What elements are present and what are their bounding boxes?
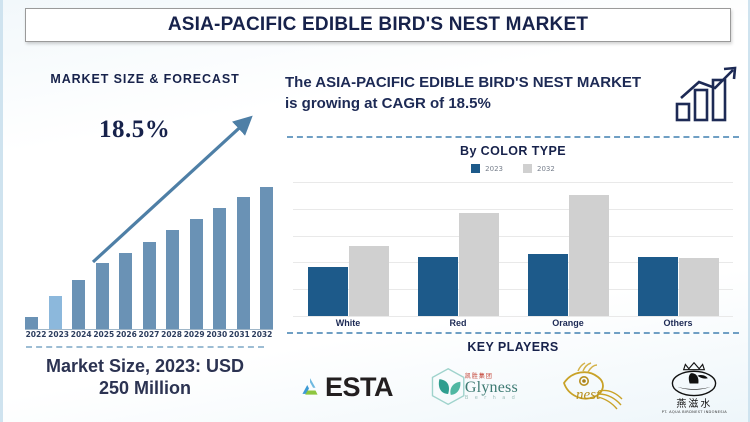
color-type-x-tick: Others <box>630 318 726 328</box>
forecast-bar <box>143 242 156 329</box>
right-column: The ASIA-PACIFIC EDIBLE BIRD'S NEST MARK… <box>281 50 745 418</box>
statement-emphasis: ASIA-PACIFIC EDIBLE BIRD'S NEST MARKET <box>315 74 641 91</box>
forecast-x-tick: 2022 <box>25 330 47 339</box>
forecast-x-tick: 2026 <box>115 330 137 339</box>
aqua-subtitle: PT. AQUA BIRDNEST INDONESIA <box>662 410 727 414</box>
page-title-bar: ASIA-PACIFIC EDIBLE BIRD'S NEST MARKET <box>25 8 731 42</box>
gridline <box>293 316 733 317</box>
market-size-value-line2: 250 Million <box>21 378 269 400</box>
forecast-bar <box>260 187 273 329</box>
page-title: ASIA-PACIFIC EDIBLE BIRD'S NEST MARKET <box>168 14 588 36</box>
forecast-bar <box>72 280 85 330</box>
forecast-x-tick: 2032 <box>251 330 273 339</box>
forecast-bar <box>25 317 38 329</box>
statement-tail: is growing at CAGR of 18.5% <box>285 95 491 112</box>
market-size-value: Market Size, 2023: USD 250 Million <box>11 356 279 400</box>
color-type-x-tick: Red <box>410 318 506 328</box>
forecast-bar <box>119 253 132 329</box>
growth-statement-row: The ASIA-PACIFIC EDIBLE BIRD'S NEST MARK… <box>285 58 741 130</box>
forecast-x-tick: 2030 <box>206 330 228 339</box>
key-player-logo-cnest: nest <box>554 358 626 416</box>
key-players-row: ESTA 凯胜集团 Glyness B e r h a d <box>281 356 745 418</box>
growth-statement-text: The ASIA-PACIFIC EDIBLE BIRD'S NEST MARK… <box>285 73 653 114</box>
footer-divider <box>26 346 264 348</box>
legend-label: 2023 <box>485 165 503 173</box>
infographic-page: ASIA-PACIFIC EDIBLE BIRD'S NEST MARKET M… <box>0 0 750 422</box>
color-type-title: By COLOR TYPE <box>281 144 745 158</box>
market-size-forecast-panel: MARKET SIZE & FORECAST 18.5% 20222023202… <box>11 50 279 416</box>
legend-swatch-icon <box>471 164 480 173</box>
divider-top <box>287 136 739 138</box>
cnest-bird-logo-icon: nest <box>554 361 626 413</box>
forecast-x-tick: 2028 <box>161 330 183 339</box>
forecast-bar <box>237 197 250 329</box>
color-type-bar <box>308 267 348 316</box>
forecast-x-tick: 2029 <box>183 330 205 339</box>
market-size-forecast-chart <box>25 170 273 330</box>
color-type-chart <box>293 182 733 316</box>
forecast-bar <box>49 296 62 329</box>
glyness-subtitle: B e r h a d <box>465 396 518 401</box>
market-size-value-line1: Market Size, 2023: USD <box>21 356 269 378</box>
key-player-logo-esta: ESTA <box>299 358 393 416</box>
forecast-x-tick: 2031 <box>228 330 250 339</box>
color-type-bar-group <box>630 182 726 316</box>
color-type-bar <box>459 213 499 316</box>
color-type-bar <box>569 195 609 316</box>
legend-swatch-icon <box>523 164 532 173</box>
forecast-bar <box>190 219 203 329</box>
forecast-x-axis: 2022202320242025202620272028202920302031… <box>25 330 273 339</box>
market-size-forecast-heading: MARKET SIZE & FORECAST <box>11 72 279 86</box>
divider-bottom <box>287 332 739 334</box>
key-player-logo-glyness: 凯胜集团 Glyness B e r h a d <box>429 358 518 416</box>
color-type-x-axis: WhiteRedOrangeOthers <box>293 318 733 328</box>
cagr-annotation: 18.5% <box>99 116 170 144</box>
color-type-legend: 20232032 <box>281 164 745 173</box>
forecast-bars <box>25 177 273 330</box>
forecast-x-tick: 2027 <box>138 330 160 339</box>
color-type-x-tick: Orange <box>520 318 616 328</box>
esta-wordmark: ESTA <box>325 374 393 401</box>
color-type-x-tick: White <box>300 318 396 328</box>
color-type-bar <box>679 258 719 316</box>
forecast-x-tick: 2025 <box>93 330 115 339</box>
cnest-wordmark: nest <box>576 387 601 403</box>
key-player-logo-aqua-birdnest: 燕滋水 PT. AQUA BIRDNEST INDONESIA <box>662 358 727 416</box>
color-type-bar-group <box>520 182 616 316</box>
forecast-bar <box>166 230 179 329</box>
color-type-bar <box>528 254 568 316</box>
color-type-bar <box>349 246 389 316</box>
forecast-x-tick: 2024 <box>70 330 92 339</box>
color-type-bar <box>418 257 458 316</box>
key-players-title: KEY PLAYERS <box>281 340 745 354</box>
esta-triangle-logo-icon <box>299 376 321 398</box>
glyness-hexagon-leaf-logo-icon <box>429 366 469 408</box>
legend-item[interactable]: 2032 <box>523 164 555 173</box>
color-type-bar-group <box>300 182 396 316</box>
color-type-bar <box>638 257 678 316</box>
glyness-wordmark: Glyness <box>465 380 518 396</box>
forecast-x-tick: 2023 <box>48 330 70 339</box>
legend-item[interactable]: 2023 <box>471 164 503 173</box>
aqua-birdnest-crown-logo-icon <box>668 361 720 399</box>
aqua-chinese-name: 燕滋水 <box>676 399 712 410</box>
growth-bar-chart-icon <box>675 66 741 122</box>
market-size-footer: Market Size, 2023: USD 250 Million <box>11 346 279 400</box>
legend-label: 2032 <box>537 165 555 173</box>
color-type-bar-group <box>410 182 506 316</box>
forecast-bar <box>96 263 109 329</box>
color-type-bars <box>293 182 733 316</box>
statement-lead: The <box>285 74 315 91</box>
forecast-bar <box>213 208 226 329</box>
